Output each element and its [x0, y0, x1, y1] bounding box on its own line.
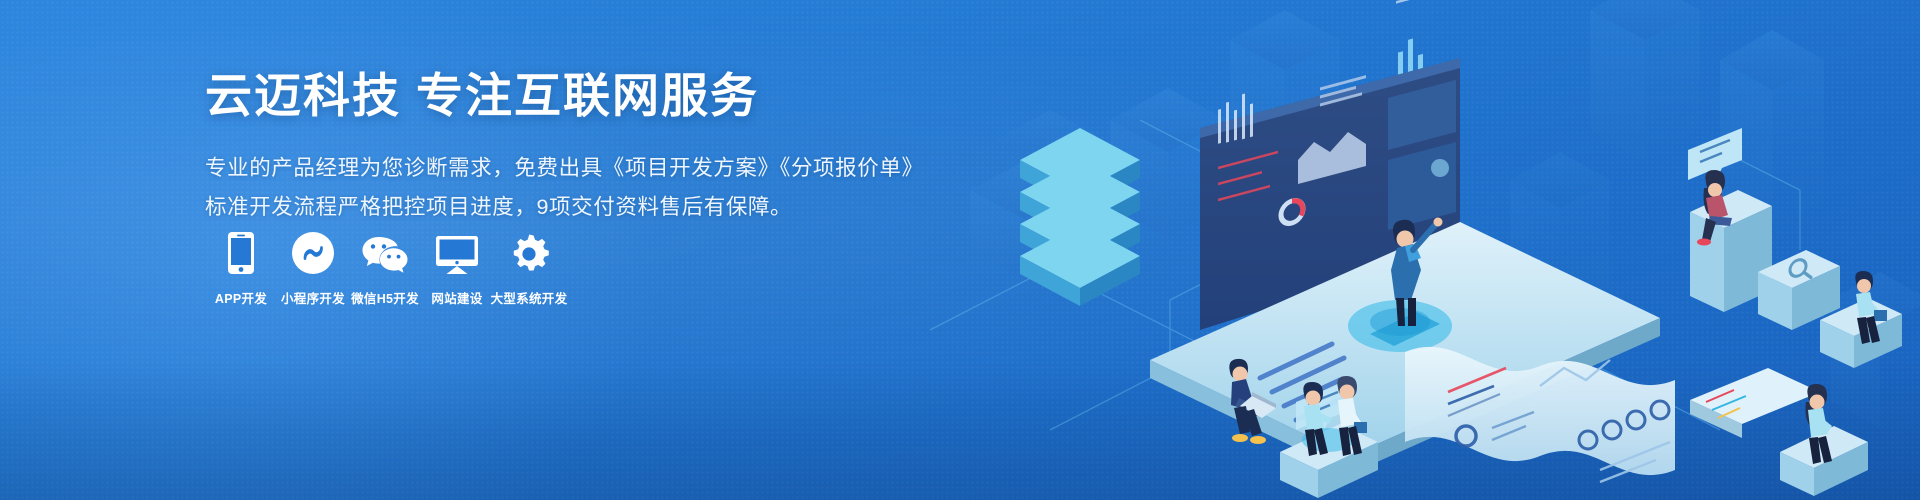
subtitle-line-2: 标准开发流程严格把控项目进度，9项交付资料售后有保障。: [205, 188, 905, 226]
isometric-illustration: [900, 0, 1920, 500]
service-item-miniprogram[interactable]: 小程序开发: [277, 228, 349, 307]
service-label-website: 网站建设: [431, 288, 482, 307]
subtitle-block: 专业的产品经理为您诊断需求，免费出具《项目开发方案》《分项报价单》 标准开发流程…: [205, 149, 905, 226]
service-item-wechat-h5[interactable]: 微信H5开发: [349, 228, 421, 307]
service-label-miniprogram: 小程序开发: [281, 288, 345, 307]
wechat-icon: [362, 228, 408, 274]
service-label-app: APP开发: [215, 288, 267, 307]
service-label-large-system: 大型系统开发: [491, 288, 568, 307]
mobile-phone-icon: [228, 228, 254, 274]
service-item-app[interactable]: APP开发: [205, 228, 277, 307]
desktop-monitor-icon: [436, 228, 478, 274]
banner-copy: 云迈科技 专注互联网服务 专业的产品经理为您诊断需求，免费出具《项目开发方案》《…: [205, 68, 905, 226]
subtitle-line-1: 专业的产品经理为您诊断需求，免费出具《项目开发方案》《分项报价单》: [205, 149, 905, 187]
mini-program-icon: [292, 228, 334, 274]
gear-icon: [509, 228, 549, 274]
service-item-large-system[interactable]: 大型系统开发: [493, 228, 565, 307]
promo-banner: 云迈科技 专注互联网服务 专业的产品经理为您诊断需求，免费出具《项目开发方案》《…: [0, 0, 1920, 500]
service-item-website[interactable]: 网站建设: [421, 228, 493, 307]
service-label-wechat-h5: 微信H5开发: [351, 288, 419, 307]
page-title: 云迈科技 专注互联网服务: [205, 68, 905, 123]
service-icon-row: APP开发 小程序开发: [205, 228, 565, 307]
